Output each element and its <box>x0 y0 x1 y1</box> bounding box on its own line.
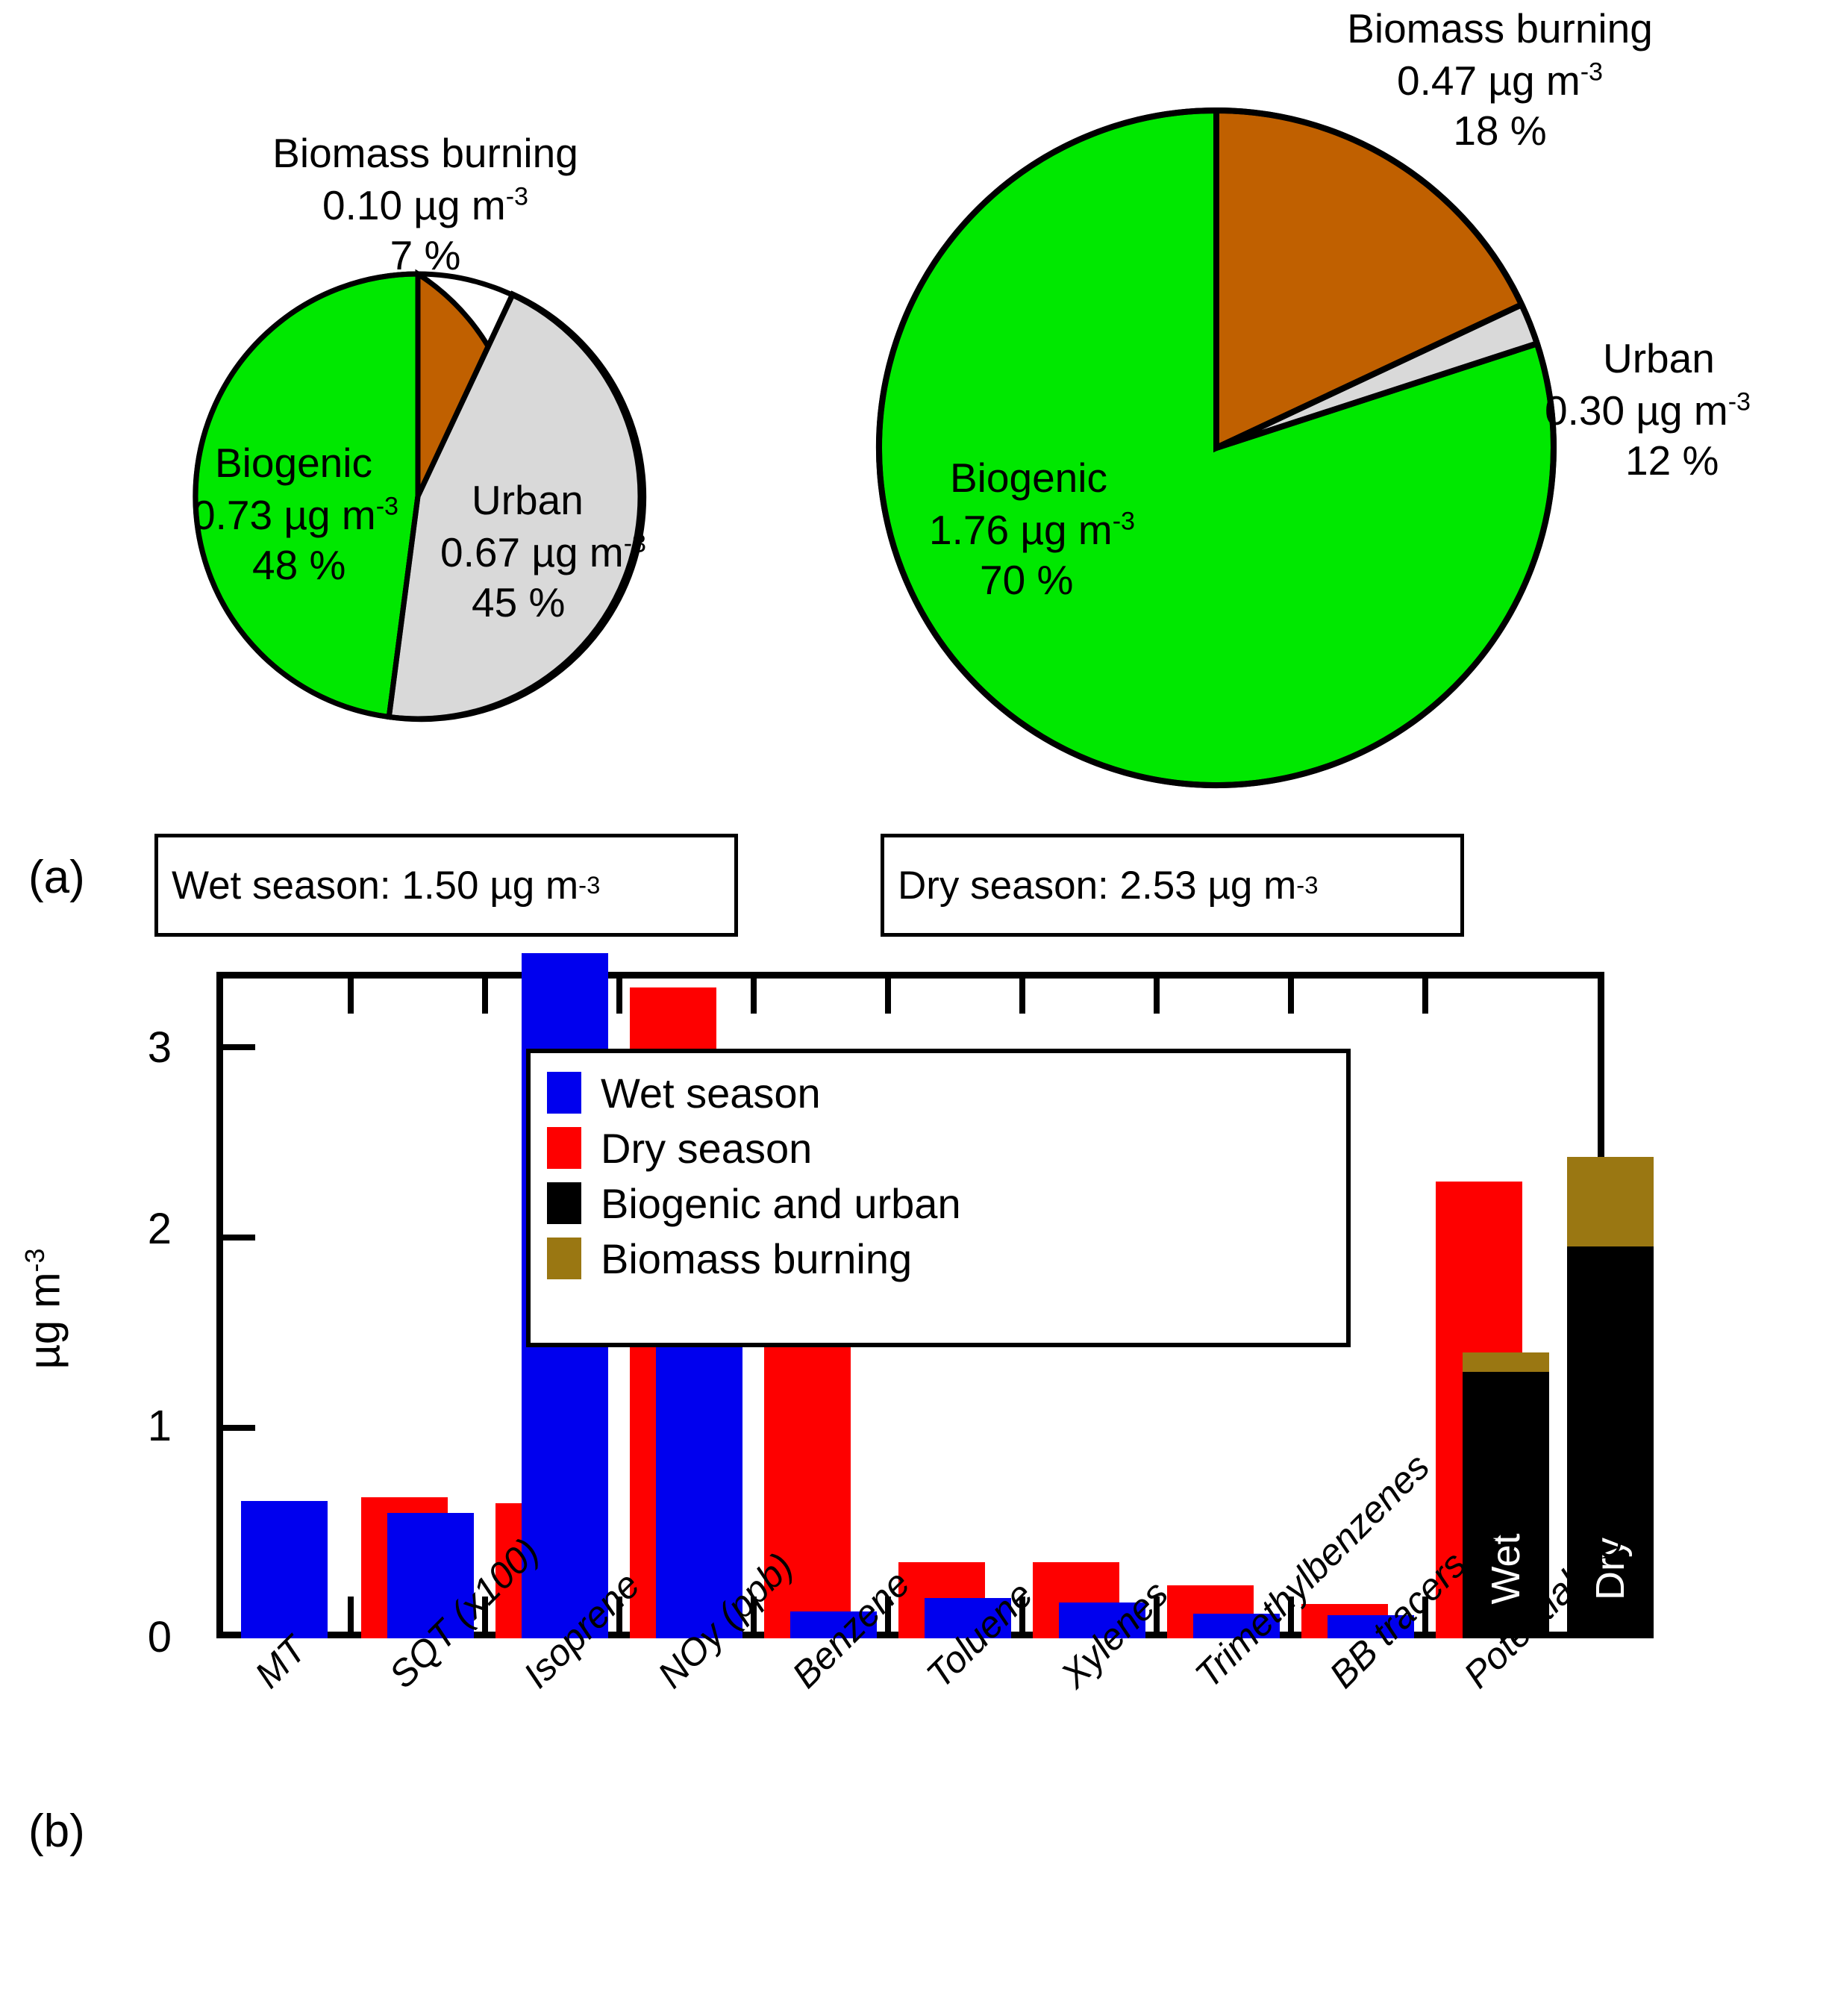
pie-dry-urban-percent: 12 % <box>1545 438 1751 484</box>
pie-wet-biogenic-label-group: Biogenic 0.73 µg m-3 48 % <box>193 440 398 589</box>
pie-dry-bb-exp: -3 <box>1580 57 1603 86</box>
pie-wet-urban-name: Urban <box>440 478 646 524</box>
pie-dry-bb-name: Biomass burning <box>1194 6 1806 52</box>
pie-dry-urban-label-group: Urban 0.30 µg m-3 12 % <box>1545 336 1751 484</box>
dry-season-total-text: Dry season: 2.53 µg m <box>898 863 1296 908</box>
pie-wet-urban-label-group: Urban 0.67 µg m-3 45 % <box>440 478 646 626</box>
y-tick-label-2: 2 <box>90 1204 172 1254</box>
legend-label-biogenic-urban: Biogenic and urban <box>601 1179 961 1228</box>
figure-root: (a) Biomass burning 0.10 µg m-3 <box>0 0 1826 2016</box>
x-tick-top-group-6 <box>1019 972 1025 1014</box>
legend-row-wet-season: Wet season <box>547 1065 1327 1120</box>
legend-row-biogenic-urban: Biogenic and urban <box>547 1176 1327 1231</box>
wet-season-total-text: Wet season: 1.50 µg m <box>172 863 578 908</box>
pie-wet-bb-value: 0.10 µg m <box>322 182 506 228</box>
pie-dry-biogenic-value: 1.76 µg m <box>929 507 1113 553</box>
x-tick-top-group-4 <box>751 972 757 1014</box>
pie-wet-urban-value: 0.67 µg m <box>440 529 624 575</box>
y-axis-title-exp: -3 <box>19 1248 50 1272</box>
bar-potential-soa-wet-biomass-segment <box>1463 1352 1549 1372</box>
pie-dry-biogenic-exp: -3 <box>1113 507 1135 535</box>
legend-label-wet-season: Wet season <box>601 1069 821 1117</box>
legend-swatch-biomass-burning <box>547 1238 581 1279</box>
y-tick-3 <box>216 1044 255 1050</box>
bar-mt-wet <box>241 1501 328 1638</box>
pie-dry-bb-value-line: 0.47 µg m-3 <box>1194 58 1806 104</box>
pie-wet-bb-exp: -3 <box>506 182 528 210</box>
pie-wet-bb-label-group: Biomass burning 0.10 µg m-3 7 % <box>201 131 649 279</box>
pie-wet-bb-percent: 7 % <box>201 233 649 279</box>
pie-dry-biogenic-percent: 70 % <box>929 558 1135 604</box>
pie-wet-biogenic-value-line: 0.73 µg m-3 <box>193 493 398 539</box>
pie-dry-urban-exp: -3 <box>1728 387 1751 416</box>
x-tick-top-group-1 <box>348 972 354 1014</box>
pie-dry-biogenic-value-line: 1.76 µg m-3 <box>929 508 1135 554</box>
legend-row-dry-season: Dry season <box>547 1120 1327 1176</box>
x-tick-top-group-9 <box>1422 972 1428 1014</box>
x-tick-group-1 <box>348 1597 354 1638</box>
pie-wet-urban-exp: -3 <box>624 529 646 558</box>
x-tick-top-group-8 <box>1288 972 1294 1014</box>
pie-dry-urban-value-line: 0.30 µg m-3 <box>1545 388 1751 434</box>
pie-dry-biogenic-name: Biogenic <box>929 455 1135 502</box>
pie-dry-svg <box>873 104 1560 791</box>
legend-swatch-biogenic-urban <box>547 1182 581 1224</box>
x-tick-top-group-5 <box>885 972 891 1014</box>
pie-wet-urban-percent: 45 % <box>440 580 646 626</box>
legend-label-biomass-burning: Biomass burning <box>601 1235 912 1283</box>
y-tick-1 <box>216 1425 255 1431</box>
chart-legend: Wet season Dry season Biogenic and urban… <box>526 1049 1351 1347</box>
y-tick-label-1: 1 <box>90 1401 172 1451</box>
panel-a-label: (a) <box>28 851 85 904</box>
pie-dry-urban-name: Urban <box>1545 336 1751 382</box>
pie-dry-urban-value: 0.30 µg m <box>1545 387 1728 434</box>
y-tick-label-0: 0 <box>90 1612 172 1662</box>
pie-wet-biogenic-percent: 48 % <box>193 543 398 589</box>
pie-wet-biogenic-exp: -3 <box>376 492 398 520</box>
x-tick-top-group-7 <box>1154 972 1160 1014</box>
pie-wet-bb-name: Biomass burning <box>201 131 649 177</box>
x-tick-top-group-3 <box>616 972 622 1014</box>
legend-swatch-dry-season <box>547 1127 581 1169</box>
legend-label-dry-season: Dry season <box>601 1124 812 1173</box>
pie-wet-urban-value-line: 0.67 µg m-3 <box>440 530 646 576</box>
legend-swatch-wet-season <box>547 1072 581 1114</box>
panel-b-label: (b) <box>28 1805 85 1858</box>
pie-dry-season <box>873 104 1560 791</box>
legend-row-biomass-burning: Biomass burning <box>547 1231 1327 1286</box>
pie-wet-bb-value-line: 0.10 µg m-3 <box>201 183 649 229</box>
bar-potential-soa-dry-biomass-segment <box>1567 1157 1654 1246</box>
y-tick-2 <box>216 1235 255 1241</box>
pie-dry-bb-percent: 18 % <box>1194 108 1806 155</box>
y-axis-title-text: µg m <box>21 1272 69 1369</box>
pie-dry-bb-value: 0.47 µg m <box>1397 57 1580 104</box>
y-tick-label-3: 3 <box>90 1023 172 1073</box>
pie-dry-biogenic-label-group: Biogenic 1.76 µg m-3 70 % <box>929 455 1135 604</box>
pie-dry-bb-label-group: Biomass burning 0.47 µg m-3 18 % <box>1194 6 1806 155</box>
wet-season-total-box: Wet season: 1.50 µg m-3 <box>154 834 738 937</box>
pie-wet-biogenic-name: Biogenic <box>193 440 398 487</box>
dry-season-total-box: Dry season: 2.53 µg m-3 <box>881 834 1464 937</box>
x-tick-top-group-2 <box>482 972 488 1014</box>
y-axis-title: µg m-3 <box>20 1212 70 1406</box>
pie-wet-biogenic-value: 0.73 µg m <box>193 492 376 538</box>
